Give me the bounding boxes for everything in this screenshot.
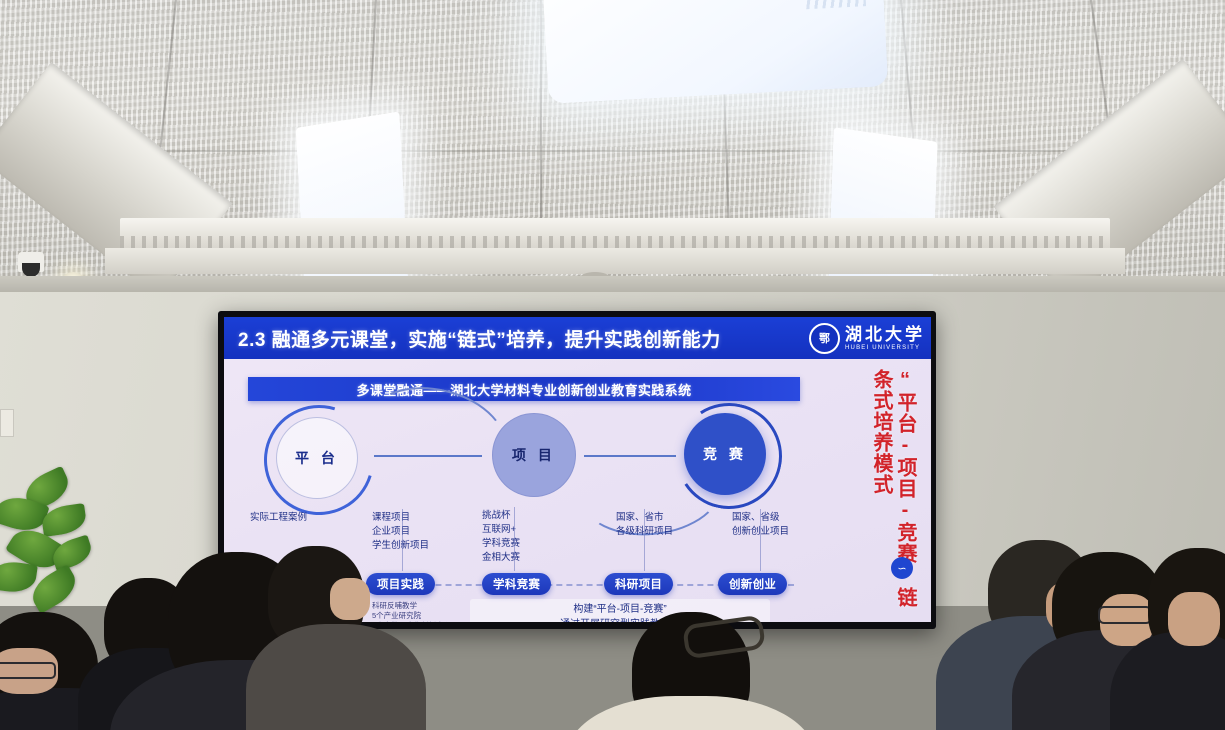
security-camera-icon — [18, 252, 44, 272]
ceiling-light-large-icon — [542, 0, 889, 104]
ceiling — [0, 0, 1225, 300]
ceiling-light-right-icon — [827, 127, 937, 300]
slide-title-bar: 2.3 融通多元课堂，实施“链式”培养，提升实践创新能力 鄂 湖北大学 HUBE… — [224, 317, 931, 359]
slide-banner: 多课堂融通——湖北大学材料专业创新创业教育实践系统 — [248, 377, 800, 401]
circle-project: 项 目 — [492, 413, 576, 497]
foreground-attendees — [0, 520, 1225, 730]
straight-connector — [584, 455, 676, 457]
slide-title-text: 2.3 融通多元课堂，实施“链式”培养，提升实践创新能力 — [238, 325, 721, 352]
wall-trim — [0, 276, 1225, 292]
ceiling-step — [105, 248, 1125, 274]
wall-switch[interactable] — [0, 409, 14, 437]
university-seal-icon: 鄂 — [809, 323, 840, 354]
circle-competition: 竞 赛 — [684, 413, 766, 495]
seal-glyph: 鄂 — [819, 330, 830, 346]
screenshot-root: 2.3 融通多元课堂，实施“链式”培养，提升实践创新能力 鄂 湖北大学 HUBE… — [0, 0, 1225, 730]
attendee-body — [246, 624, 426, 730]
attendee-body — [566, 696, 816, 730]
straight-connector — [374, 455, 482, 457]
attendee-face — [330, 578, 370, 620]
eyeglasses-icon — [0, 662, 56, 679]
eyeglasses-icon — [1098, 606, 1152, 624]
ceiling-seam — [540, 0, 542, 250]
university-name-en: HUBEI UNIVERSITY — [845, 345, 925, 351]
university-logo: 鄂 湖北大学 HUBEI UNIVERSITY — [809, 323, 925, 354]
university-name-cn: 湖北大学 — [845, 326, 925, 343]
circle-platform: 平 台 — [276, 417, 358, 499]
attendee-face — [1168, 592, 1220, 646]
ceiling-seam — [0, 150, 1225, 152]
